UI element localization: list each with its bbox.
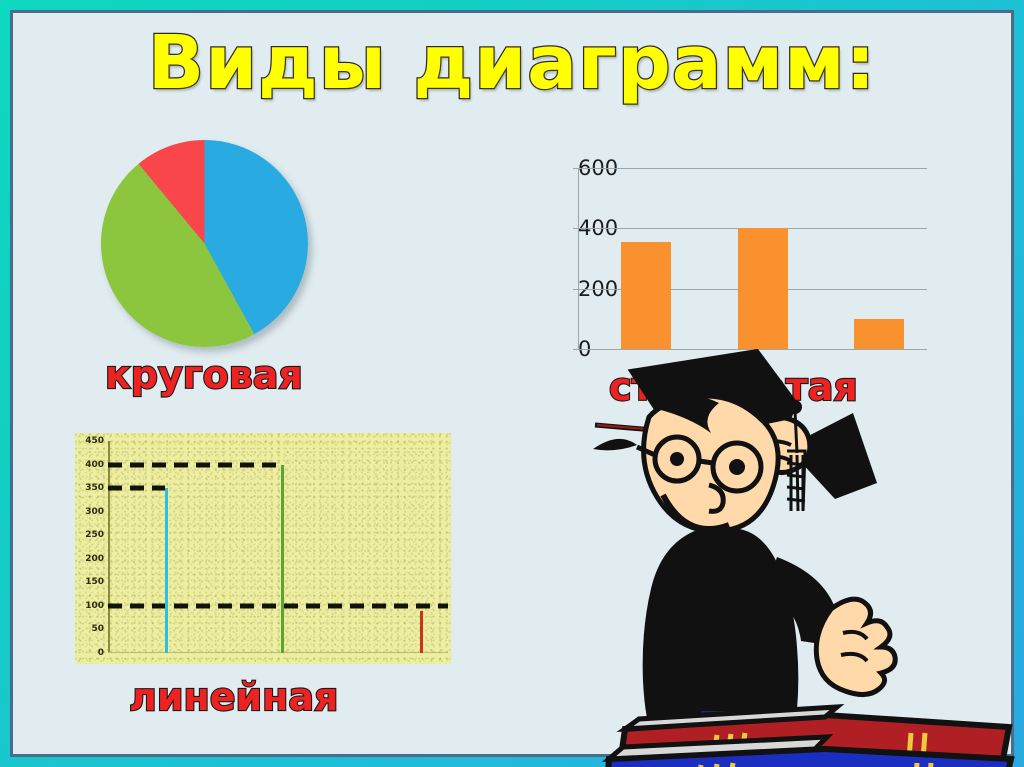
bar-chart-plot-area [578, 168, 927, 349]
line-chart-y-tick-label: 300 [85, 507, 104, 517]
line-chart-y-tick-label: 0 [98, 648, 104, 658]
line-chart-dashed-series [108, 603, 448, 608]
book-stack [607, 707, 1011, 767]
line-chart-vertical-series [281, 465, 284, 653]
pie-chart [101, 140, 308, 347]
line-chart-y-tick-label: 450 [85, 436, 104, 446]
bar-chart-y-axis [578, 168, 579, 349]
bar-chart-axis-tick [573, 349, 579, 350]
bar-chart-bar [621, 242, 671, 349]
bar-chart-axis-tick [573, 168, 579, 169]
bar-chart: 0200400600 [507, 168, 927, 363]
bar-chart-axis-tick [573, 289, 579, 290]
bar-chart-gridline [578, 168, 927, 169]
line-chart-y-tick-label: 150 [85, 577, 104, 587]
line-chart-y-tick-label: 250 [85, 530, 104, 540]
line-chart-y-tick-label: 400 [85, 460, 104, 470]
line-chart-vertical-series [165, 488, 168, 653]
slide-inner-frame: Виды диаграмм: круговая 0200400600 столб… [10, 10, 1014, 757]
professor-with-pointer-clipart [591, 343, 1024, 767]
line-chart-y-tick-label: 200 [85, 554, 104, 564]
line-chart-vertical-series [420, 611, 423, 653]
page-title: Виды диаграмм: [13, 25, 1011, 103]
bar-chart-bar [738, 228, 788, 349]
slide-root: Виды диаграмм: круговая 0200400600 столб… [0, 0, 1024, 767]
left-eye [670, 452, 684, 466]
line-chart-dashed-series [108, 486, 165, 491]
line-chart: 050100150200250300350400450 [75, 433, 451, 664]
line-chart-x-axis [108, 652, 448, 653]
line-chart-y-tick-label: 350 [85, 483, 104, 493]
bar-chart-axis-tick [573, 228, 579, 229]
line-chart-y-tick-label: 50 [91, 624, 104, 634]
line-chart-y-tick-label: 100 [85, 601, 104, 611]
line-chart-plot-area: 050100150200250300350400450 [108, 441, 448, 653]
line-chart-y-axis [108, 441, 110, 653]
line-chart-dashed-series [108, 462, 281, 467]
pie-chart-disc [101, 140, 308, 347]
line-chart-caption: линейная [129, 675, 338, 719]
pie-chart-caption: круговая [105, 353, 303, 397]
right-eye [729, 459, 745, 475]
open-hand [816, 599, 895, 694]
